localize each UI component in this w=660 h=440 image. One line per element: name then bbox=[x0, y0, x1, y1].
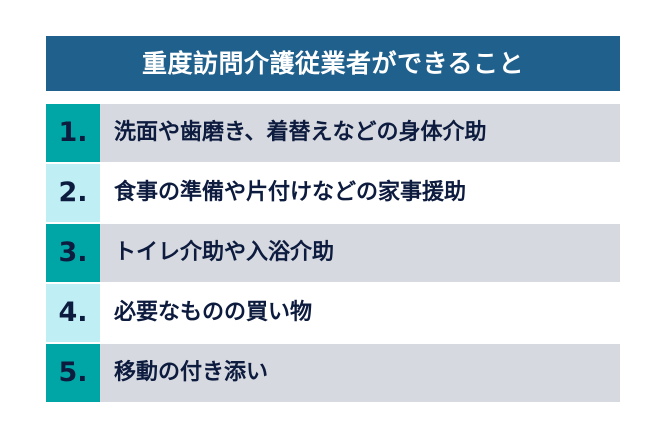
list-item-number-badge: 3. bbox=[46, 224, 100, 282]
list-item-number-badge: 1. bbox=[46, 104, 100, 162]
list-item-label: トイレ介助や入浴介助 bbox=[100, 224, 620, 282]
list-item-number-badge: 2. bbox=[46, 164, 100, 222]
header-bar: 重度訪問介護従業者ができること bbox=[46, 36, 620, 91]
list-item: 4. 必要なものの買い物 bbox=[46, 284, 620, 342]
page-title: 重度訪問介護従業者ができること bbox=[142, 51, 524, 76]
list-item: 1. 洗面や歯磨き、着替えなどの身体介助 bbox=[46, 104, 620, 162]
list-item: 3. トイレ介助や入浴介助 bbox=[46, 224, 620, 282]
list-item: 2. 食事の準備や片付けなどの家事援助 bbox=[46, 164, 620, 222]
list-item-label: 移動の付き添い bbox=[100, 344, 620, 402]
list-item: 5. 移動の付き添い bbox=[46, 344, 620, 402]
list-item-label: 食事の準備や片付けなどの家事援助 bbox=[100, 164, 620, 222]
list-item-label: 洗面や歯磨き、着替えなどの身体介助 bbox=[100, 104, 620, 162]
list-item-label: 必要なものの買い物 bbox=[100, 284, 620, 342]
list-item-number-badge: 5. bbox=[46, 344, 100, 402]
list-container: 1. 洗面や歯磨き、着替えなどの身体介助 2. 食事の準備や片付けなどの家事援助… bbox=[46, 104, 620, 402]
list-item-number-badge: 4. bbox=[46, 284, 100, 342]
infographic-card: 重度訪問介護従業者ができること 1. 洗面や歯磨き、着替えなどの身体介助 2. … bbox=[46, 36, 620, 404]
